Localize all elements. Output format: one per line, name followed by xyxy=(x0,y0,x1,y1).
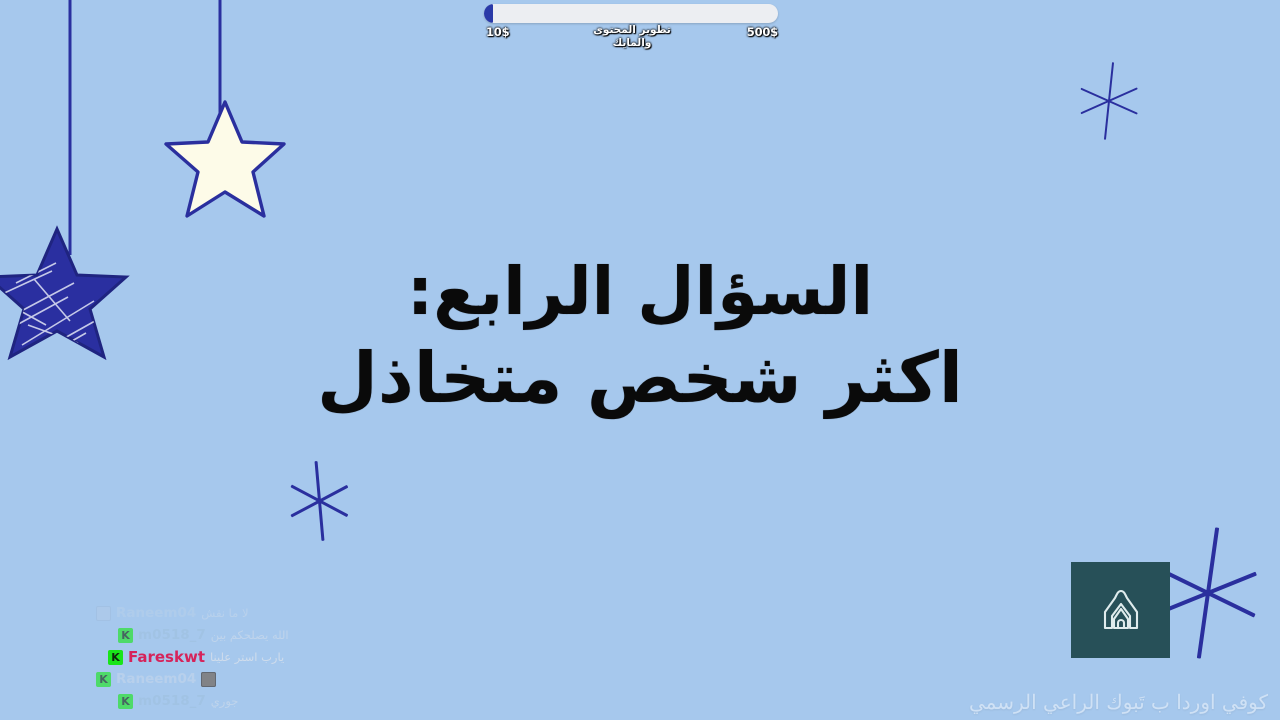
goal-labels-row: 10$ تطوير المحتوى والمايك 500$ xyxy=(484,25,780,41)
six-point-star-cream-icon xyxy=(160,98,290,223)
moderator-badge-icon: K xyxy=(96,672,111,687)
moderator-badge-icon: K xyxy=(108,650,123,665)
goal-max-amount: 500$ xyxy=(747,25,778,39)
chat-text: جوري xyxy=(211,694,239,708)
ornament-string xyxy=(69,0,72,255)
question-block: السؤال الرابع: اكثر شخص متخاذل xyxy=(0,252,1280,424)
question-body: اكثر شخص متخاذل xyxy=(0,333,1280,424)
sparkle-mid-left xyxy=(288,462,350,540)
subscriber-badge-icon xyxy=(96,606,111,621)
sparkle-top-right xyxy=(1078,62,1140,140)
goal-title: تطوير المحتوى والمايك xyxy=(584,24,680,50)
chat-message-row[interactable]: K m0518_7 جوري xyxy=(96,690,416,712)
moderator-badge-icon: K xyxy=(118,694,133,709)
chat-text: الله يصلحكم بين xyxy=(211,628,289,642)
donation-goal-widget: 10$ تطوير المحتوى والمايك 500$ xyxy=(484,4,780,41)
chat-username[interactable]: m0518_7 xyxy=(138,693,206,709)
chat-username[interactable]: Raneem04 xyxy=(116,671,196,687)
chat-username[interactable]: Raneem04 xyxy=(116,605,196,621)
hanging-star-cream xyxy=(155,0,305,230)
question-heading: السؤال الرابع: xyxy=(0,252,1280,333)
sponsor-logo xyxy=(1071,562,1170,658)
chat-overlay: Raneem04 لا ما نقش K m0518_7 الله يصلحكم… xyxy=(96,602,416,712)
chat-username[interactable]: m0518_7 xyxy=(138,627,206,643)
chat-emote-icon xyxy=(201,672,216,687)
chat-text: يارب استر علينا xyxy=(210,650,284,664)
chat-message-row[interactable]: K m0518_7 الله يصلحكم بين xyxy=(96,624,416,646)
mountain-arch-logo-icon xyxy=(1094,586,1148,634)
chat-username[interactable]: Fareskwt xyxy=(128,648,205,666)
goal-min-amount: 10$ xyxy=(486,25,509,39)
goal-progress-track xyxy=(484,4,778,23)
chat-message-row[interactable]: K Fareskwt يارب استر علينا xyxy=(96,646,416,668)
chat-text: لا ما نقش xyxy=(201,606,248,620)
moderator-badge-icon: K xyxy=(118,628,133,643)
chat-message-row[interactable]: K Raneem04 xyxy=(96,668,416,690)
goal-progress-fill xyxy=(484,4,493,23)
chat-message-row[interactable]: Raneem04 لا ما نقش xyxy=(96,602,416,624)
sparkle-bottom-right xyxy=(1160,528,1256,658)
sponsor-caption: كوفي اوردا ب تَبوك الراعي الرسمي xyxy=(969,690,1268,714)
